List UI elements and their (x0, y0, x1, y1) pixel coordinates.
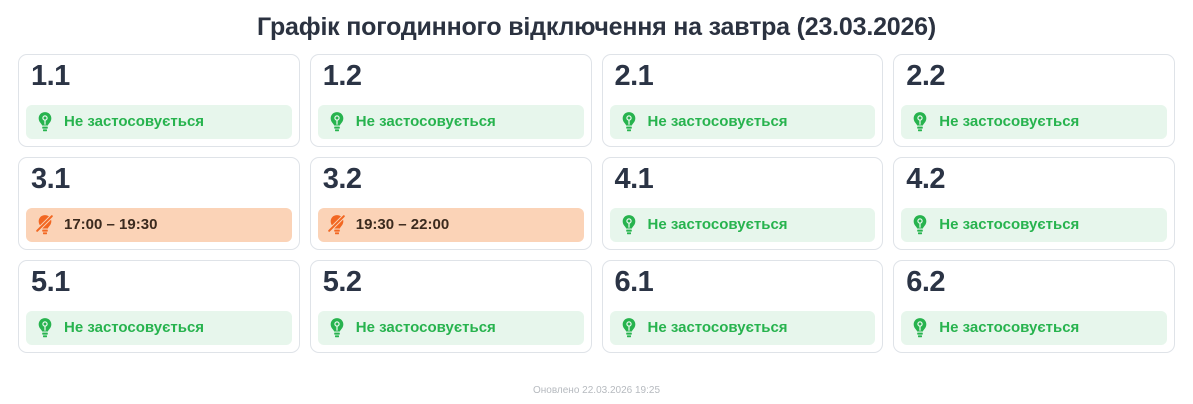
lightbulb-icon (910, 111, 930, 133)
no-outage-status-badge: Не застосовується (318, 105, 584, 139)
queue-card-grid: 1.1Не застосовується1.2Не застосовується… (0, 54, 1193, 353)
last-updated-label: Оновлено 22.03.2026 19:25 (0, 376, 1193, 404)
status-label: Не застосовується (356, 114, 496, 129)
lightbulb-icon (327, 317, 347, 339)
no-outage-status-badge: Не застосовується (26, 311, 292, 345)
status-label: Не застосовується (939, 114, 1079, 129)
queue-card[interactable]: 2.2Не застосовується (893, 54, 1175, 147)
queue-card[interactable]: 1.1Не застосовується (18, 54, 300, 147)
queue-number: 5.1 (26, 266, 292, 297)
no-outage-status-badge: Не застосовується (26, 105, 292, 139)
lightbulb-off-icon (35, 214, 55, 236)
queue-card[interactable]: 6.2Не застосовується (893, 260, 1175, 353)
queue-card[interactable]: 3.117:00 – 19:30 (18, 157, 300, 250)
page-title: Графік погодинного відключення на завтра… (0, 0, 1193, 54)
queue-card[interactable]: 5.2Не застосовується (310, 260, 592, 353)
lightbulb-icon (910, 214, 930, 236)
lightbulb-off-icon (327, 214, 347, 236)
queue-card[interactable]: 4.1Не застосовується (602, 157, 884, 250)
status-label: Не застосовується (648, 114, 788, 129)
outage-status-badge: 17:00 – 19:30 (26, 208, 292, 242)
lightbulb-icon (327, 111, 347, 133)
queue-number: 1.1 (26, 60, 292, 91)
queue-number: 3.1 (26, 163, 292, 194)
status-label: Не застосовується (64, 114, 204, 129)
queue-number: 4.2 (901, 163, 1167, 194)
no-outage-status-badge: Не застосовується (901, 105, 1167, 139)
queue-card[interactable]: 6.1Не застосовується (602, 260, 884, 353)
queue-number: 6.1 (610, 266, 876, 297)
lightbulb-icon (619, 317, 639, 339)
status-label: 17:00 – 19:30 (64, 217, 157, 232)
queue-number: 4.1 (610, 163, 876, 194)
queue-number: 2.1 (610, 60, 876, 91)
outage-schedule-page: Графік погодинного відключення на завтра… (0, 0, 1193, 404)
queue-number: 5.2 (318, 266, 584, 297)
lightbulb-icon (619, 214, 639, 236)
queue-number: 1.2 (318, 60, 584, 91)
queue-number: 6.2 (901, 266, 1167, 297)
status-label: Не застосовується (939, 320, 1079, 335)
outage-status-badge: 19:30 – 22:00 (318, 208, 584, 242)
lightbulb-icon (910, 317, 930, 339)
no-outage-status-badge: Не застосовується (610, 105, 876, 139)
queue-card[interactable]: 4.2Не застосовується (893, 157, 1175, 250)
queue-number: 3.2 (318, 163, 584, 194)
status-label: Не застосовується (939, 217, 1079, 232)
no-outage-status-badge: Не застосовується (610, 208, 876, 242)
no-outage-status-badge: Не застосовується (318, 311, 584, 345)
status-label: Не застосовується (648, 320, 788, 335)
lightbulb-icon (35, 317, 55, 339)
queue-card[interactable]: 5.1Не застосовується (18, 260, 300, 353)
status-label: Не застосовується (648, 217, 788, 232)
status-label: 19:30 – 22:00 (356, 217, 449, 232)
no-outage-status-badge: Не застосовується (610, 311, 876, 345)
queue-card[interactable]: 1.2Не застосовується (310, 54, 592, 147)
no-outage-status-badge: Не застосовується (901, 208, 1167, 242)
no-outage-status-badge: Не застосовується (901, 311, 1167, 345)
status-label: Не застосовується (356, 320, 496, 335)
queue-number: 2.2 (901, 60, 1167, 91)
queue-card[interactable]: 3.219:30 – 22:00 (310, 157, 592, 250)
lightbulb-icon (35, 111, 55, 133)
queue-card[interactable]: 2.1Не застосовується (602, 54, 884, 147)
status-label: Не застосовується (64, 320, 204, 335)
lightbulb-icon (619, 111, 639, 133)
